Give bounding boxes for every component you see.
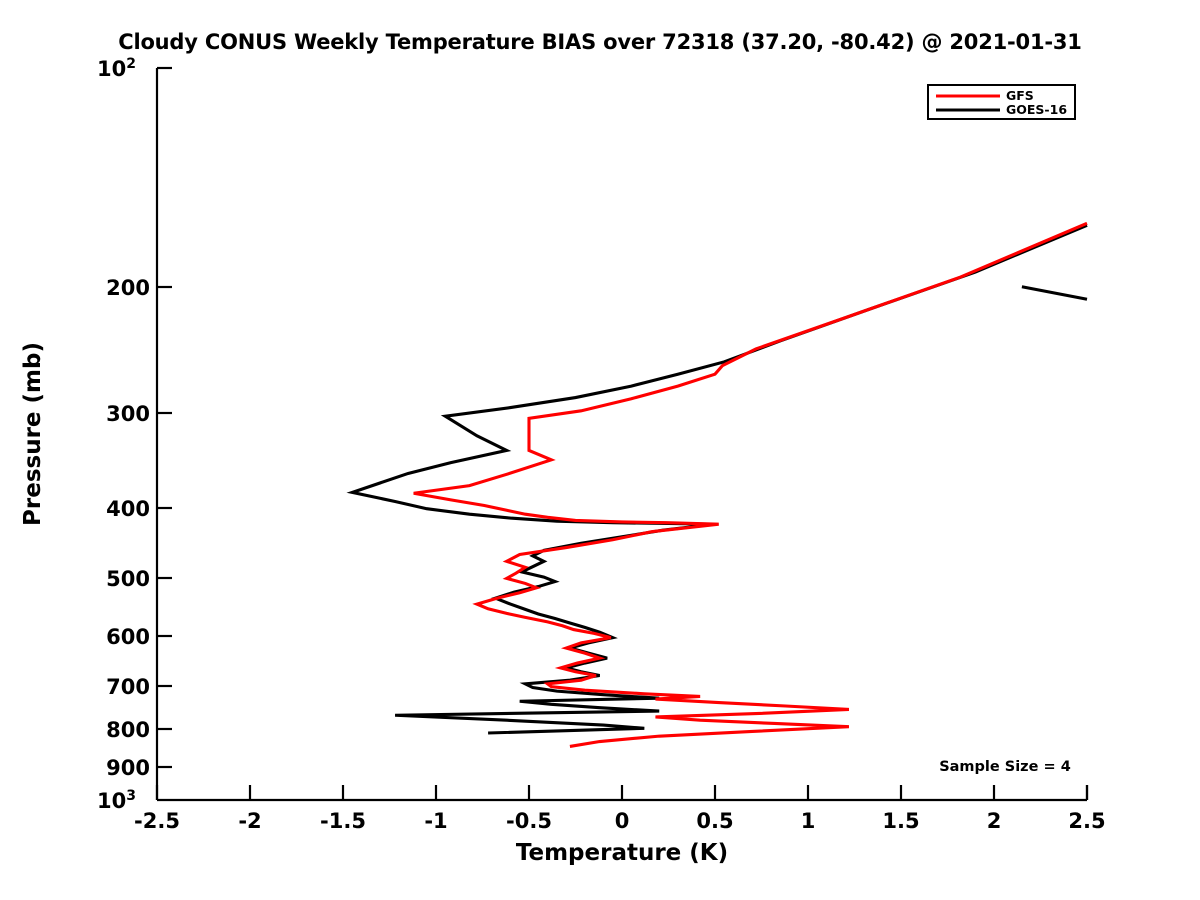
y-tick-label-600: 600 bbox=[106, 625, 150, 649]
x-tick-label-3: -1 bbox=[424, 809, 447, 833]
x-tick-label-2: -1.5 bbox=[320, 809, 366, 833]
y-tick-label-700: 700 bbox=[106, 675, 150, 699]
y-axis-title: Pressure (mb) bbox=[20, 342, 46, 526]
plot-area: 102 200 300 400 500 600 700 800 900 103 bbox=[0, 0, 1200, 900]
y-tick-label-1000: 103 bbox=[97, 788, 136, 813]
y-tick-label-300: 300 bbox=[106, 402, 150, 426]
x-tick-labels: -2.5 -2 -1.5 -1 -0.5 0 0.5 1 1.5 2 2.5 bbox=[134, 809, 1106, 833]
y-tick-marks bbox=[157, 287, 172, 767]
x-tick-label-7: 1 bbox=[801, 809, 816, 833]
sample-size-annotation: Sample Size = 4 bbox=[939, 759, 1071, 775]
x-tick-label-5: 0 bbox=[615, 809, 630, 833]
chart-figure: Cloudy CONUS Weekly Temperature BIAS ove… bbox=[0, 0, 1200, 900]
legend: GFS GOES-16 bbox=[928, 85, 1075, 119]
series-line-goes16 bbox=[352, 225, 1087, 733]
x-tick-label-0: -2.5 bbox=[134, 809, 180, 833]
y-tick-label-200: 200 bbox=[106, 276, 150, 300]
legend-label-gfs: GFS bbox=[1006, 88, 1034, 103]
y-tick-label-100: 102 bbox=[97, 56, 136, 81]
data-series-group bbox=[352, 223, 1087, 746]
y-tick-label-800: 800 bbox=[106, 718, 150, 742]
y-tick-label-500: 500 bbox=[106, 567, 150, 591]
y-tick-label-400: 400 bbox=[106, 497, 150, 521]
x-tick-marks bbox=[157, 785, 1087, 800]
x-tick-label-8: 1.5 bbox=[882, 809, 919, 833]
x-tick-label-6: 0.5 bbox=[696, 809, 733, 833]
x-tick-label-1: -2 bbox=[238, 809, 261, 833]
series-line-goes16-upper-segment bbox=[1022, 287, 1087, 300]
legend-label-goes16: GOES-16 bbox=[1006, 102, 1067, 117]
series-line-gfs bbox=[414, 223, 1087, 746]
y-tick-label-900: 900 bbox=[106, 756, 150, 780]
x-axis-title: Temperature (K) bbox=[516, 840, 728, 866]
x-tick-label-9: 2 bbox=[987, 809, 1002, 833]
x-tick-label-10: 2.5 bbox=[1068, 809, 1105, 833]
y-tick-labels: 102 200 300 400 500 600 700 800 900 103 bbox=[97, 56, 150, 813]
x-tick-label-4: -0.5 bbox=[506, 809, 552, 833]
